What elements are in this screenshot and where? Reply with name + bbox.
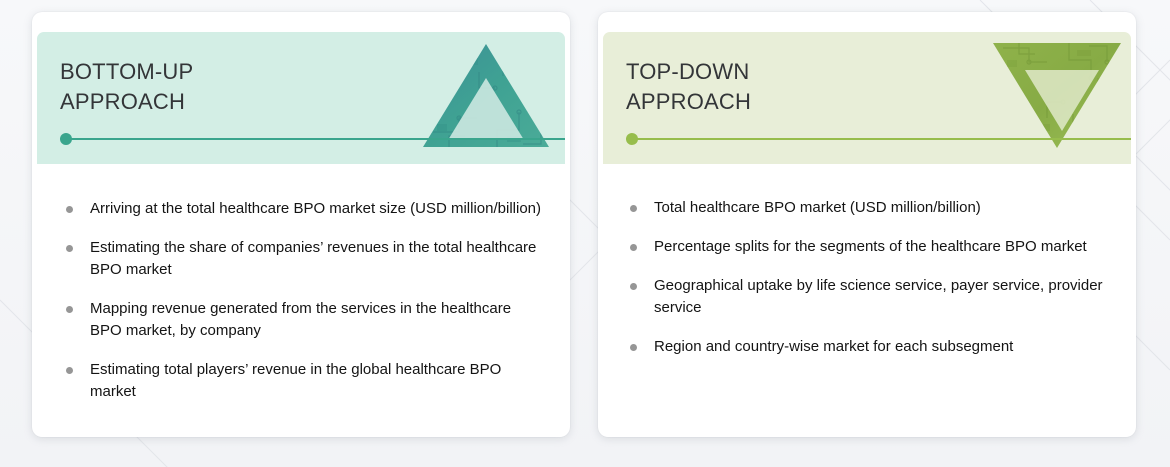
accent-line — [636, 138, 1131, 140]
card-title-bottom-up: BOTTOM-UP APPROACH — [60, 57, 193, 117]
list-item: Arriving at the total healthcare BPO mar… — [60, 198, 544, 220]
list-item: Percentage splits for the segments of th… — [624, 236, 1110, 258]
bullet-dot-icon — [66, 206, 73, 213]
bullet-dot-icon — [66, 306, 73, 313]
list-item-text: Geographical uptake by life science serv… — [654, 277, 1103, 316]
bottom-up-approach-card: BOTTOM-UP APPROACH — [32, 12, 570, 437]
card-header-top-down: TOP-DOWN APPROACH — [603, 32, 1131, 164]
list-item: Mapping revenue generated from the servi… — [60, 298, 544, 342]
list-item: Estimating the share of companies’ reven… — [60, 237, 544, 281]
list-item-text: Total healthcare BPO market (USD million… — [654, 199, 981, 216]
card-title-top-down: TOP-DOWN APPROACH — [626, 57, 751, 117]
accent-line — [70, 138, 565, 140]
list-item-text: Arriving at the total healthcare BPO mar… — [90, 200, 541, 217]
bullet-dot-icon — [630, 283, 637, 290]
bullet-dot-icon — [630, 205, 637, 212]
bullet-dot-icon — [630, 344, 637, 351]
list-item: Estimating total players’ revenue in the… — [60, 359, 544, 403]
list-item-text: Percentage splits for the segments of th… — [654, 238, 1087, 255]
bottom-up-bullet-list: Arriving at the total healthcare BPO mar… — [32, 164, 570, 403]
card-header-bottom-up: BOTTOM-UP APPROACH — [37, 32, 565, 164]
list-item: Geographical uptake by life science serv… — [624, 275, 1110, 319]
top-down-bullet-list: Total healthcare BPO market (USD million… — [598, 164, 1136, 358]
list-item: Region and country-wise market for each … — [624, 336, 1110, 358]
list-item: Total healthcare BPO market (USD million… — [624, 197, 1110, 219]
list-item-text: Estimating total players’ revenue in the… — [90, 361, 501, 400]
accent-rule-bottom-up — [60, 132, 565, 146]
list-item-text: Region and country-wise market for each … — [654, 338, 1013, 355]
top-down-approach-card: TOP-DOWN APPROACH — [598, 12, 1136, 437]
bullet-dot-icon — [630, 244, 637, 251]
bullet-dot-icon — [66, 245, 73, 252]
accent-rule-top-down — [626, 132, 1131, 146]
bullet-dot-icon — [66, 367, 73, 374]
list-item-text: Mapping revenue generated from the servi… — [90, 300, 511, 339]
list-item-text: Estimating the share of companies’ reven… — [90, 239, 536, 278]
